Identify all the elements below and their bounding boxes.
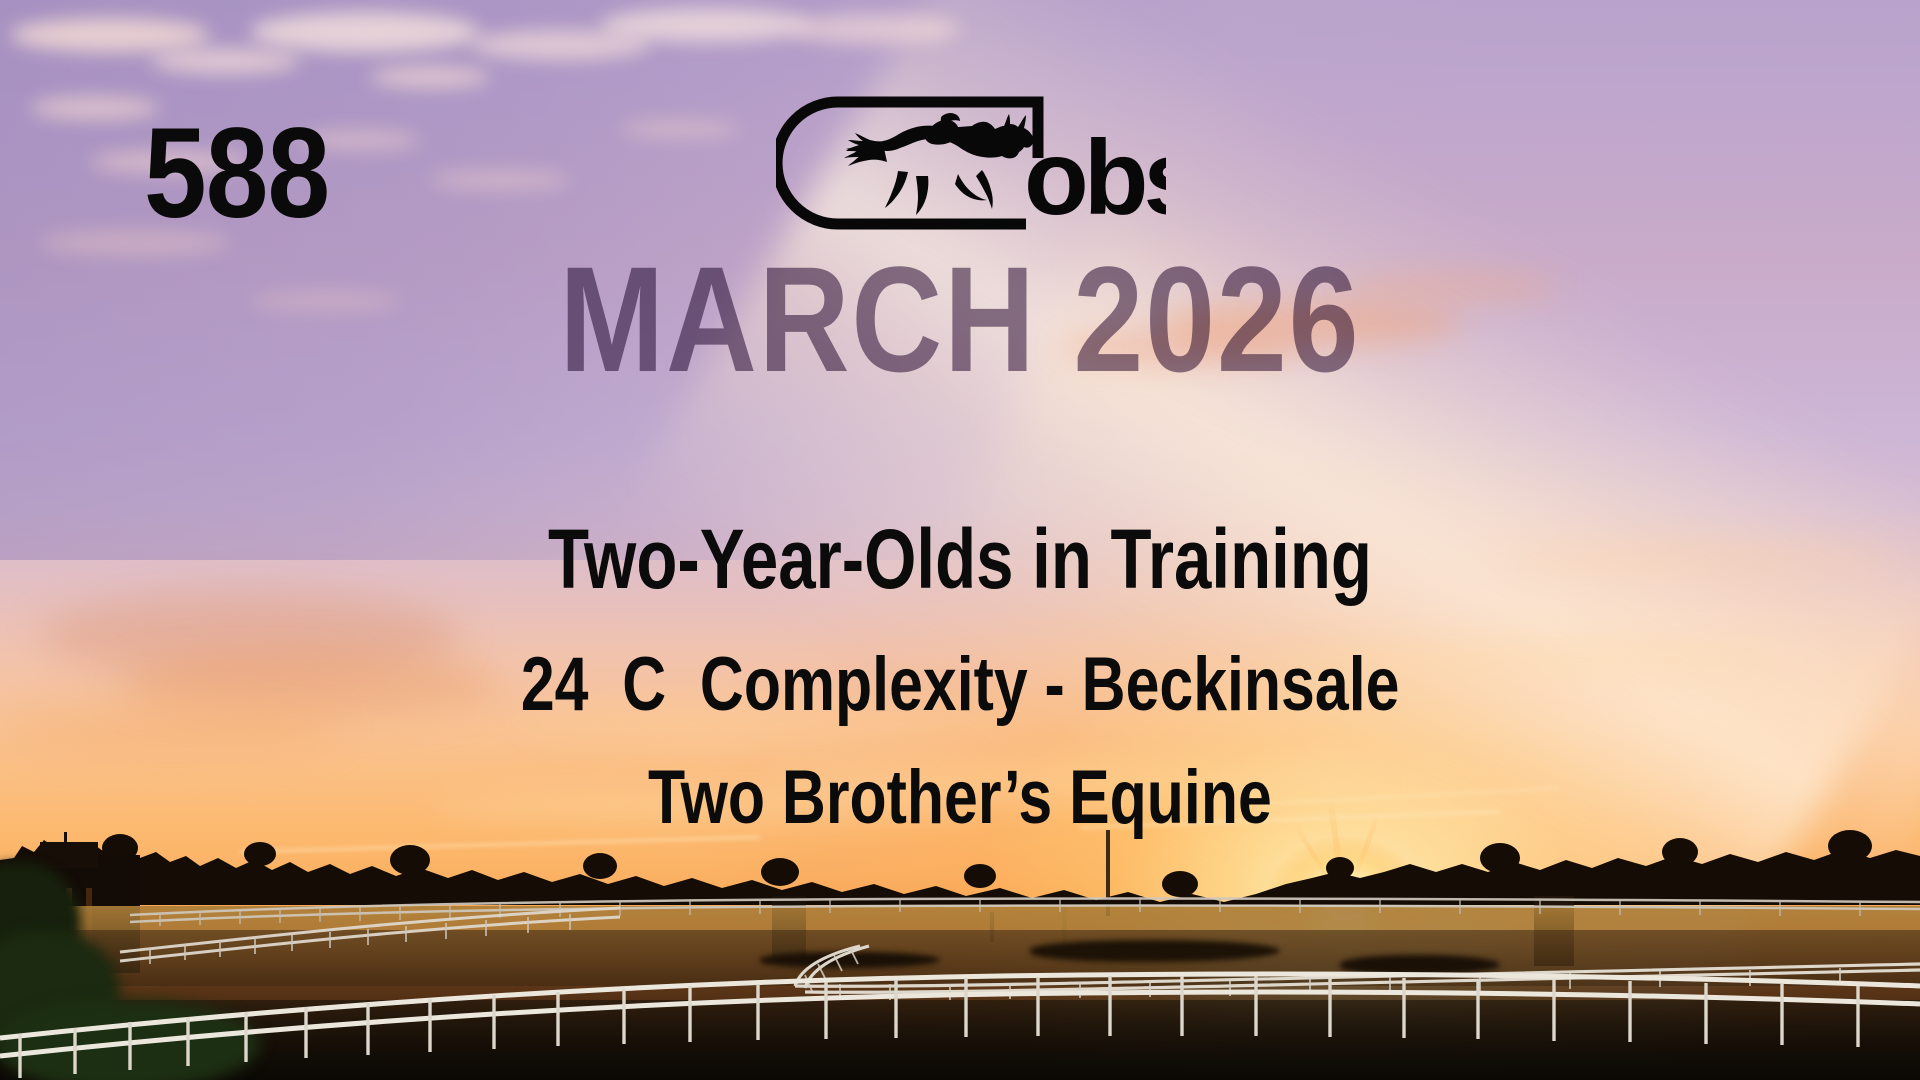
horse-description-text: 24 C Complexity - Beckinsale bbox=[521, 647, 1400, 723]
consignor-text: Two Brother’s Equine bbox=[648, 760, 1272, 836]
hip-number: 588 bbox=[144, 110, 329, 238]
horse-description-line: 24 C Complexity - Beckinsale bbox=[0, 647, 1920, 723]
obs-logo-svg: obs bbox=[776, 96, 1166, 231]
hip-card-image: 588 obs bbox=[0, 0, 1920, 1080]
sale-month-heading: MARCH 2026 bbox=[0, 244, 1920, 394]
logo-frame bbox=[777, 102, 1038, 224]
obs-wordmark: obs bbox=[1024, 119, 1166, 231]
obs-wordmark-text: obs bbox=[1024, 119, 1166, 231]
consignor-line: Two Brother’s Equine bbox=[0, 760, 1920, 836]
sale-type-heading: Two-Year-Olds in Training bbox=[0, 517, 1920, 601]
sale-type-text: Two-Year-Olds in Training bbox=[548, 517, 1372, 601]
obs-logo: obs bbox=[776, 96, 1166, 231]
white-rail-fence bbox=[0, 860, 1920, 1080]
running-horse-and-jockey-icon bbox=[844, 113, 1033, 215]
sale-month-text: MARCH 2026 bbox=[559, 244, 1360, 394]
